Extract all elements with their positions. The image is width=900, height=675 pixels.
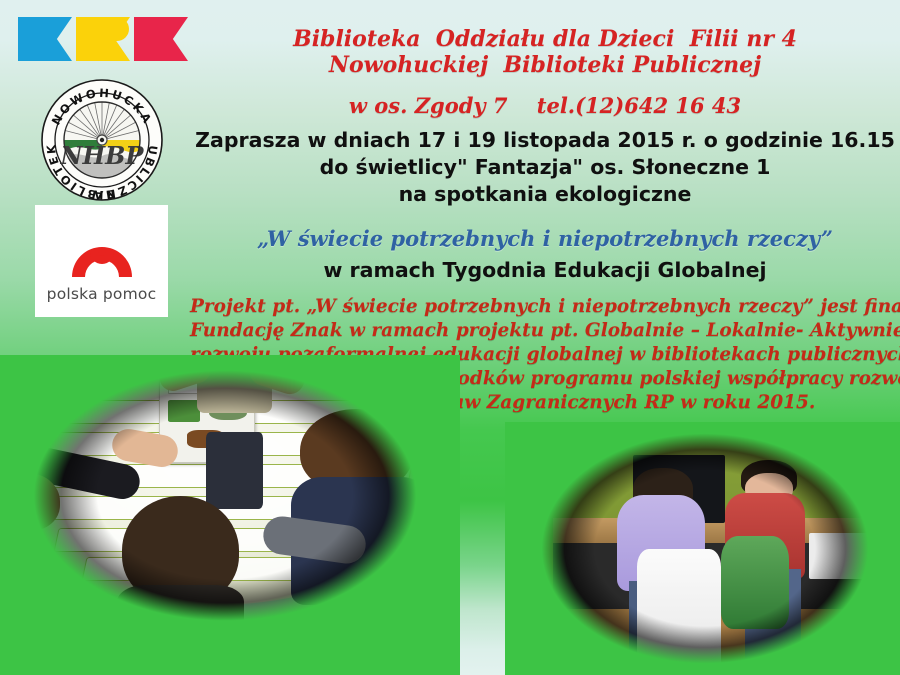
funding-line-2: Fundację Znak w ramach projektu pt. Glob…: [190, 319, 900, 343]
flower-decoration: [513, 452, 549, 480]
seal-monogram: NHBP: [60, 141, 145, 170]
krk-flag-shape: [134, 17, 188, 61]
krk-logo: [18, 17, 188, 61]
headline-line-1: Biblioteka Oddziału dla Dzieci Filii nr …: [190, 0, 900, 52]
children-floor-game-photo: [0, 355, 460, 675]
seal-graphic: NOWOHUCKA PUBLICZNA BIBLIOTEKA: [35, 78, 169, 202]
invitation-line-3: na spotkania ekologiczne: [190, 181, 900, 208]
krk-letter-k-blue: [18, 17, 72, 61]
krk-letter-r-yellow: [76, 17, 130, 61]
poster-text-column: Biblioteka Oddziału dla Dzieci Filii nr …: [190, 0, 900, 415]
funding-line-1: Projekt pt. „W świecie potrzebnych i nie…: [190, 295, 900, 319]
coat-rack: [521, 468, 529, 615]
library-seal-logo: NOWOHUCKA PUBLICZNA BIBLIOTEKA: [35, 78, 169, 202]
polska-pomoc-logo: polska pomoc: [35, 205, 168, 317]
project-title: „W świecie potrzebnych i niepotrzebnych …: [190, 208, 900, 252]
child-standing-legs: [206, 432, 262, 509]
children-sorting-bags-photo: [505, 422, 900, 675]
white-bag: [637, 549, 721, 675]
global-education-week-line: w ramach Tygodnia Edukacji Globalnej: [190, 252, 900, 284]
child-front-body: [117, 585, 244, 662]
headline-line-2: Nowohuckiej Biblioteki Publicznej: [190, 52, 900, 78]
invitation-line-1: Zaprasza w dniach 17 i 19 listopada 2015…: [190, 118, 900, 154]
krk-flag-shape: [18, 17, 72, 61]
photo-scene: [505, 422, 900, 675]
krk-letter-k-red: [134, 17, 188, 61]
printer: [809, 533, 873, 579]
invitation-line-2: do świetlicy" Fantazja" os. Słoneczne 1: [190, 154, 900, 181]
polska-pomoc-label: polska pomoc: [47, 285, 157, 303]
poster-root: NOWOHUCKA PUBLICZNA BIBLIOTEKA: [0, 0, 900, 675]
polska-pomoc-mark-icon: [64, 219, 140, 281]
address-line: w os. Zgody 7 tel.(12)642 16 43: [190, 78, 900, 118]
green-bag: [721, 536, 789, 630]
child-left-hair: [0, 473, 60, 531]
krk-r-bowl: [103, 17, 129, 41]
photo-scene: [0, 355, 460, 675]
